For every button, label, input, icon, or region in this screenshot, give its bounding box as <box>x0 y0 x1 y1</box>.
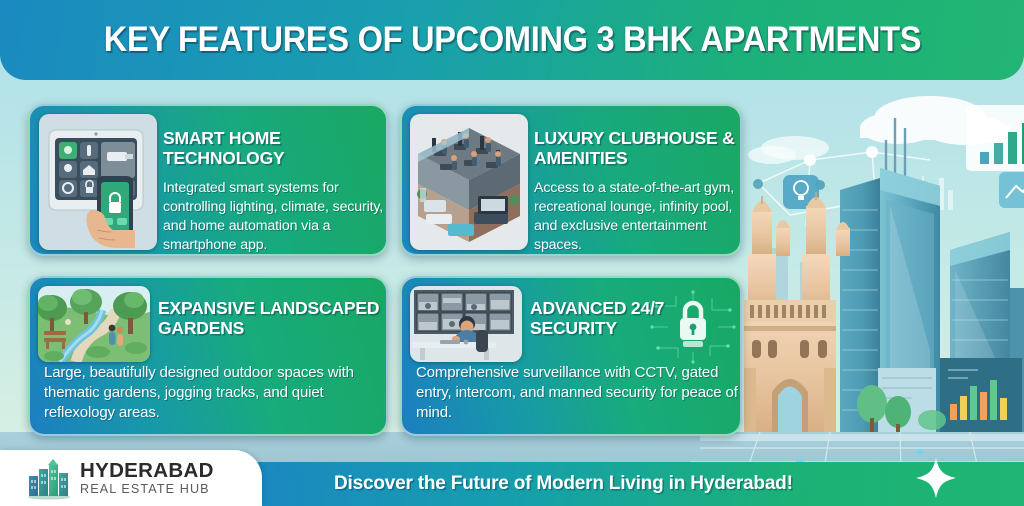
card-title-gardens: EXPANSIVE LANDSCAPED GARDENS <box>158 298 388 338</box>
sparkle-icon <box>914 456 958 500</box>
brand-name: HYDERABAD <box>80 460 214 482</box>
footer-tagline: Discover the Future of Modern Living in … <box>334 473 793 495</box>
card-body-smart-home: Integrated smart systems for controlling… <box>163 179 388 255</box>
building-cluster-icon <box>26 456 72 500</box>
smart-home-tablet-illustration <box>39 114 157 250</box>
brand-tagline: REAL ESTATE HUB <box>80 482 214 497</box>
cctv-control-room-illustration <box>410 286 522 362</box>
landscaped-garden-park-illustration <box>38 286 150 362</box>
feature-card-gardens[interactable]: EXPANSIVE LANDSCAPED GARDENS Large, beau… <box>28 276 388 436</box>
footer-bar: Discover the Future of Modern Living in … <box>228 462 1024 506</box>
card-title-smart-home: SMART HOME TECHNOLOGY <box>163 128 383 168</box>
card-body-clubhouse: Access to a state-of-the-art gym, recrea… <box>534 179 742 255</box>
header-banner: KEY FEATURES OF UPCOMING 3 BHK APARTMENT… <box>0 0 1024 80</box>
page-title: KEY FEATURES OF UPCOMING 3 BHK APARTMENT… <box>103 20 920 60</box>
feature-card-security[interactable]: ADVANCED 24/7 SECURITY Comprehensive sur… <box>400 276 742 436</box>
card-title-clubhouse: LUXURY CLUBHOUSE & AMENITIES <box>534 128 742 168</box>
card-title-security: ADVANCED 24/7 SECURITY <box>530 298 730 338</box>
brand-logo[interactable]: HYDERABAD REAL ESTATE HUB <box>0 450 262 506</box>
card-body-gardens: Large, beautifully designed outdoor spac… <box>44 363 388 423</box>
feature-card-smart-home[interactable]: SMART HOME TECHNOLOGY Integrated smart s… <box>28 104 388 256</box>
card-body-security: Comprehensive surveillance with CCTV, ga… <box>416 363 742 423</box>
isometric-clubhouse-gym-illustration <box>410 114 528 250</box>
feature-card-clubhouse[interactable]: LUXURY CLUBHOUSE & AMENITIES Access to a… <box>400 104 742 256</box>
